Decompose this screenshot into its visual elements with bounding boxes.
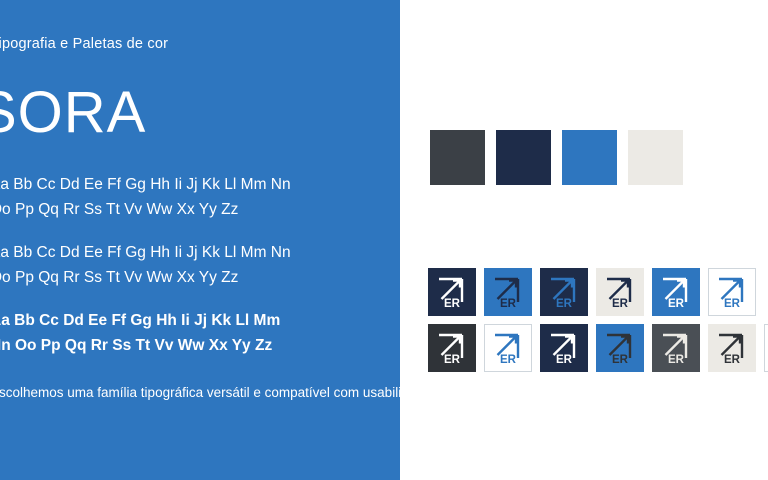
logo-tile-navy-blue: ER — [540, 268, 588, 316]
color-swatch-deep-navy — [496, 130, 551, 185]
specimen-bold-line-1: Aa Bb Cc Dd Ee Ff Gg Hh Ii Jj Kk Ll Mm — [0, 308, 280, 333]
svg-text:ER: ER — [444, 298, 461, 308]
typography-panel: Tipografia e Paletas de cor SORA Aa Bb C… — [0, 0, 400, 480]
svg-text:ER: ER — [556, 298, 573, 308]
palette-panel: ERERERERERERERERERERERERER — [400, 0, 768, 480]
logo-tile-blue-charcoal: ER — [596, 324, 644, 372]
er-logo-icon: ER — [659, 276, 693, 308]
color-swatch-row — [430, 130, 683, 185]
svg-text:ER: ER — [724, 298, 741, 308]
type-specimen-bold: Aa Bb Cc Dd Ee Ff Gg Hh Ii Jj Kk Ll Mm N… — [0, 308, 280, 358]
er-logo-icon: ER — [659, 332, 693, 364]
color-swatch-dark-charcoal — [430, 130, 485, 185]
logo-tile-white-blue: ER — [708, 268, 756, 316]
er-logo-icon: ER — [603, 276, 637, 308]
svg-text:ER: ER — [668, 298, 685, 308]
slide-canvas: Tipografia e Paletas de cor SORA Aa Bb C… — [0, 0, 768, 480]
er-logo-icon: ER — [603, 332, 637, 364]
logo-variations-grid: ERERERERERERERERERERERERER — [428, 268, 768, 380]
er-logo-icon: ER — [547, 276, 581, 308]
logo-tile-white-blue-2: ER — [484, 324, 532, 372]
svg-text:ER: ER — [668, 354, 685, 364]
logo-tile-offwhite-navy: ER — [596, 268, 644, 316]
svg-text:ER: ER — [556, 354, 573, 364]
specimen-light-line-2: Oo Pp Qq Rr Ss Tt Vv Ww Xx Yy Zz — [0, 197, 291, 222]
er-logo-icon: ER — [435, 276, 469, 308]
page-title: SORA — [0, 84, 146, 142]
caption-line-1: Escolhemos uma família tipográfica versá… — [0, 385, 250, 400]
specimen-bold-line-2: Nn Oo Pp Qq Rr Ss Tt Vv Ww Xx Yy Zz — [0, 333, 280, 358]
svg-text:ER: ER — [724, 354, 741, 364]
logo-tile-charcoal-white: ER — [428, 324, 476, 372]
specimen-regular-line-1: Aa Bb Cc Dd Ee Ff Gg Hh Ii Jj Kk Ll Mm N… — [0, 240, 291, 265]
svg-text:ER: ER — [500, 354, 517, 364]
er-logo-icon: ER — [491, 276, 525, 308]
logo-tile-navy-white-2: ER — [540, 324, 588, 372]
svg-text:ER: ER — [612, 298, 629, 308]
er-logo-icon: ER — [715, 332, 749, 364]
specimen-light-line-1: Aa Bb Cc Dd Ee Ff Gg Hh Ii Jj Kk Ll Mm N… — [0, 172, 291, 197]
logo-tile-blue-white: ER — [652, 268, 700, 316]
svg-text:ER: ER — [612, 354, 629, 364]
svg-text:ER: ER — [444, 354, 461, 364]
caption-line-2: e compatível com usabilidade digital. — [253, 385, 400, 400]
logo-tile-blue-navy: ER — [484, 268, 532, 316]
er-logo-icon: ER — [715, 276, 749, 308]
logo-tile-navy-white: ER — [428, 268, 476, 316]
type-specimen-light: Aa Bb Cc Dd Ee Ff Gg Hh Ii Jj Kk Ll Mm N… — [0, 172, 291, 222]
logo-tile-charcoal-offwhite: ER — [652, 324, 700, 372]
color-swatch-brand-blue — [562, 130, 617, 185]
type-specimen-regular: Aa Bb Cc Dd Ee Ff Gg Hh Ii Jj Kk Ll Mm N… — [0, 240, 291, 290]
er-logo-icon: ER — [547, 332, 581, 364]
logo-row-2: ERERERERERERER — [428, 324, 768, 372]
svg-text:ER: ER — [500, 298, 517, 308]
er-logo-icon: ER — [491, 332, 525, 364]
color-swatch-off-white — [628, 130, 683, 185]
typography-caption: Escolhemos uma família tipográfica versá… — [0, 382, 400, 403]
er-logo-icon: ER — [435, 332, 469, 364]
specimen-regular-line-2: Oo Pp Qq Rr Ss Tt Vv Ww Xx Yy Zz — [0, 265, 291, 290]
section-label: Tipografia e Paletas de cor — [0, 36, 168, 52]
logo-tile-offwhite-charcoal: ER — [708, 324, 756, 372]
logo-row-1: ERERERERERER — [428, 268, 768, 316]
logo-tile-white-charcoal: ER — [764, 324, 768, 372]
